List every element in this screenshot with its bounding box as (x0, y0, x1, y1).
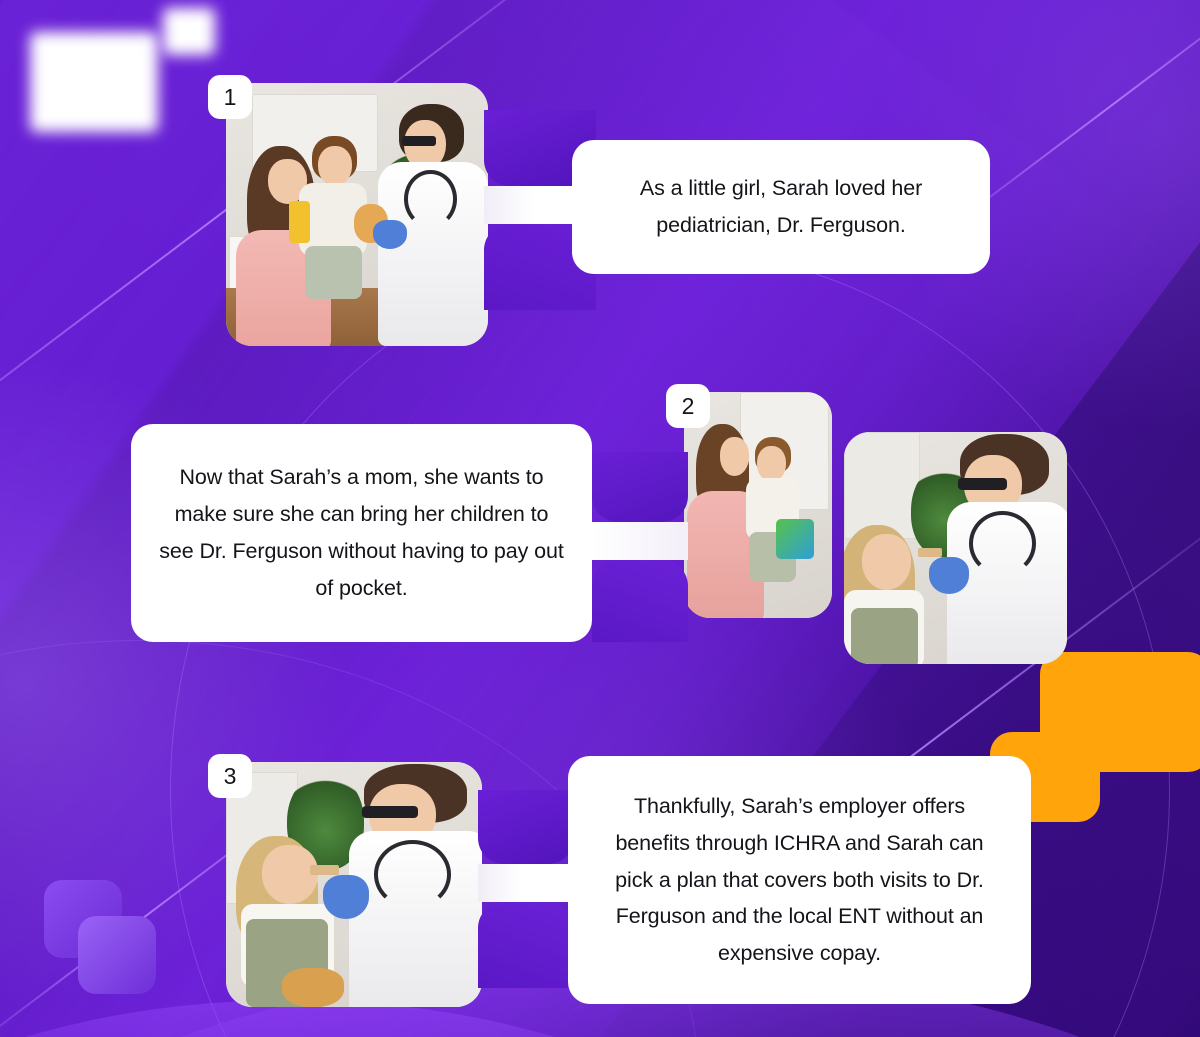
step-2-bubble: Now that Sarah’s a mom, she wants to mak… (131, 424, 592, 642)
connector-notch-top-2 (592, 452, 688, 522)
connector-notch-bottom-3 (478, 902, 574, 988)
step-2-text: Now that Sarah’s a mom, she wants to mak… (131, 459, 592, 607)
step-2-photo-card-secondary (844, 432, 1067, 664)
connector-notch-top-3 (478, 790, 574, 864)
step-2-photo-card (684, 392, 832, 618)
connector-bar-3 (478, 864, 574, 902)
step-2-photo-secondary (844, 432, 1067, 664)
step-3-bubble: Thankfully, Sarah’s employer offers bene… (568, 756, 1031, 1004)
step-1-photo-card (226, 83, 488, 346)
step-1-photo (226, 83, 488, 346)
step-3-photo-card (226, 762, 482, 1007)
white-block-large-icon (30, 32, 158, 132)
white-block-small-icon (163, 8, 215, 55)
connector-notch-bottom-2 (592, 560, 688, 642)
step-2-number: 2 (682, 395, 695, 418)
infographic-canvas: 1 As a little girl, Sarah loved her pedi… (0, 0, 1200, 1037)
step-1-badge: 1 (208, 75, 252, 119)
step-3-badge: 3 (208, 754, 252, 798)
step-1-bubble: As a little girl, Sarah loved her pediat… (572, 140, 990, 274)
step-3-number: 3 (224, 765, 237, 788)
step-2-badge: 2 (666, 384, 710, 428)
purple-block-lower-icon (78, 916, 156, 994)
connector-bar-2 (592, 522, 688, 560)
step-3-text: Thankfully, Sarah’s employer offers bene… (568, 788, 1031, 973)
step-2-photo (684, 392, 832, 618)
step-1-text: As a little girl, Sarah loved her pediat… (572, 170, 990, 244)
step-3-photo (226, 762, 482, 1007)
step-1-number: 1 (224, 86, 237, 109)
